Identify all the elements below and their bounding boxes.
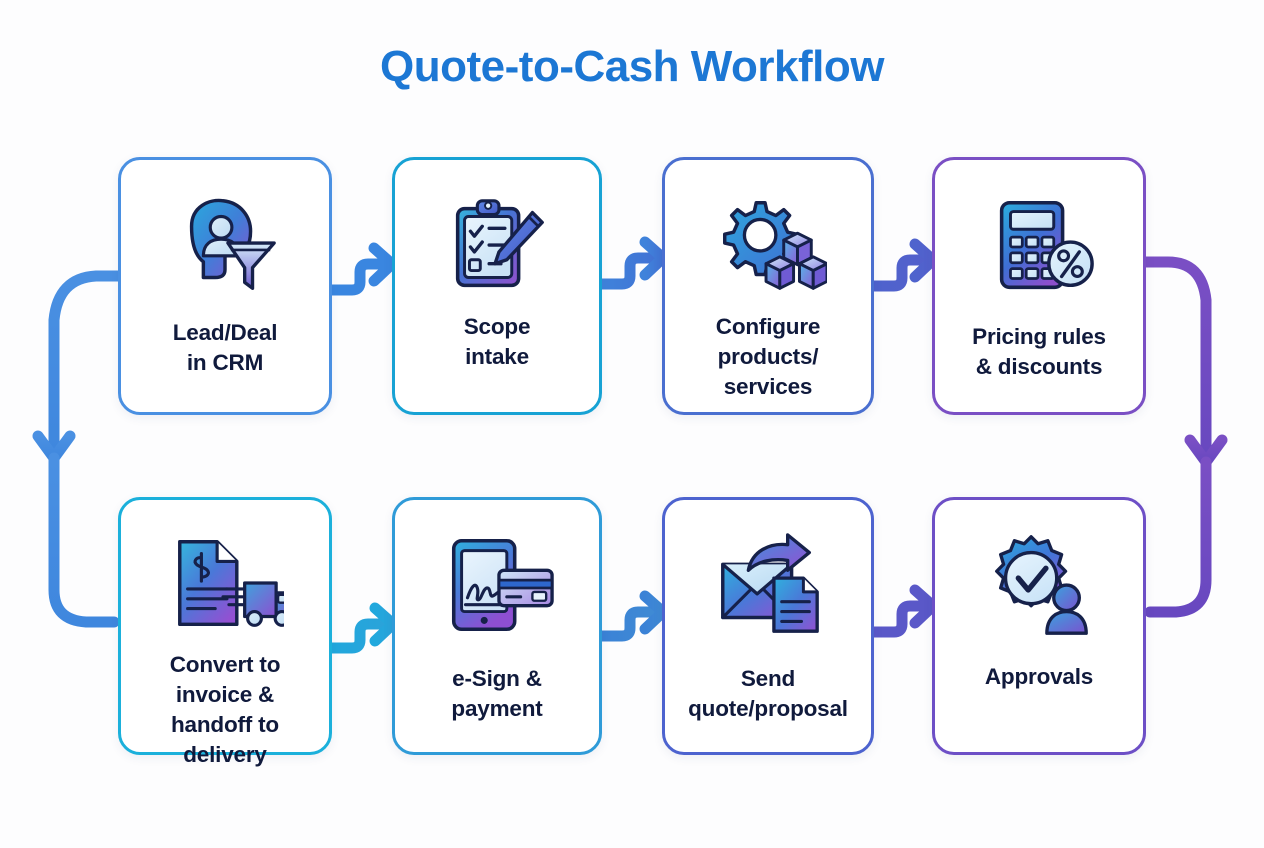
step-card-lead-deal-in-crm[interactable]: Lead/Deal in CRM <box>118 157 332 415</box>
step-card-pricing-rules-discounts[interactable]: Pricing rules & discounts <box>932 157 1146 415</box>
calculator-percent-icon <box>979 186 1099 306</box>
arrow-step4-to-step8 <box>1146 262 1222 612</box>
step-card-label: e-Sign & payment <box>443 664 550 724</box>
tablet-signature-card-icon <box>437 526 557 646</box>
step-card-label: Pricing rules & discounts <box>964 322 1114 382</box>
step-card-label: Lead/Deal in CRM <box>165 318 286 378</box>
step-card-label: Configure products/ services <box>708 312 828 402</box>
step-card-label: Scope intake <box>456 312 539 372</box>
head-person-funnel-icon <box>165 186 285 306</box>
arrow-step2-to-step3 <box>602 242 663 284</box>
arrow-step8-to-step7 <box>874 590 933 632</box>
step-card-label: Convert to invoice & handoff to delivery <box>162 650 289 770</box>
page-title: Quote-to-Cash Workflow <box>0 42 1264 92</box>
arrow-step7-to-step6 <box>602 596 663 636</box>
step-card-send-quote-proposal[interactable]: Send quote/proposal <box>662 497 874 755</box>
clipboard-checklist-pen-icon <box>437 186 557 306</box>
arrow-step3-to-step4 <box>874 244 933 286</box>
envelope-share-document-icon <box>708 526 828 646</box>
arrow-step6-to-step5 <box>332 608 393 648</box>
step-card-convert-to-invoice-handoff-delivery[interactable]: Convert to invoice & handoff to delivery <box>118 497 332 755</box>
workflow-diagram: Quote-to-Cash Workflow <box>0 0 1264 848</box>
step-card-approvals[interactable]: Approvals <box>932 497 1146 755</box>
approval-badge-person-icon <box>979 526 1099 646</box>
step-card-scope-intake[interactable]: Scope intake <box>392 157 602 415</box>
step-card-label: Approvals <box>977 662 1101 692</box>
gear-cubes-icon <box>708 186 828 306</box>
arrow-step1-to-step2 <box>332 248 392 290</box>
step-card-esign-payment[interactable]: e-Sign & payment <box>392 497 602 755</box>
arrow-step1-to-step5 <box>38 276 118 622</box>
invoice-truck-icon <box>165 526 285 644</box>
step-card-label: Send quote/proposal <box>680 664 856 724</box>
step-card-configure-products-services[interactable]: Configure products/ services <box>662 157 874 415</box>
